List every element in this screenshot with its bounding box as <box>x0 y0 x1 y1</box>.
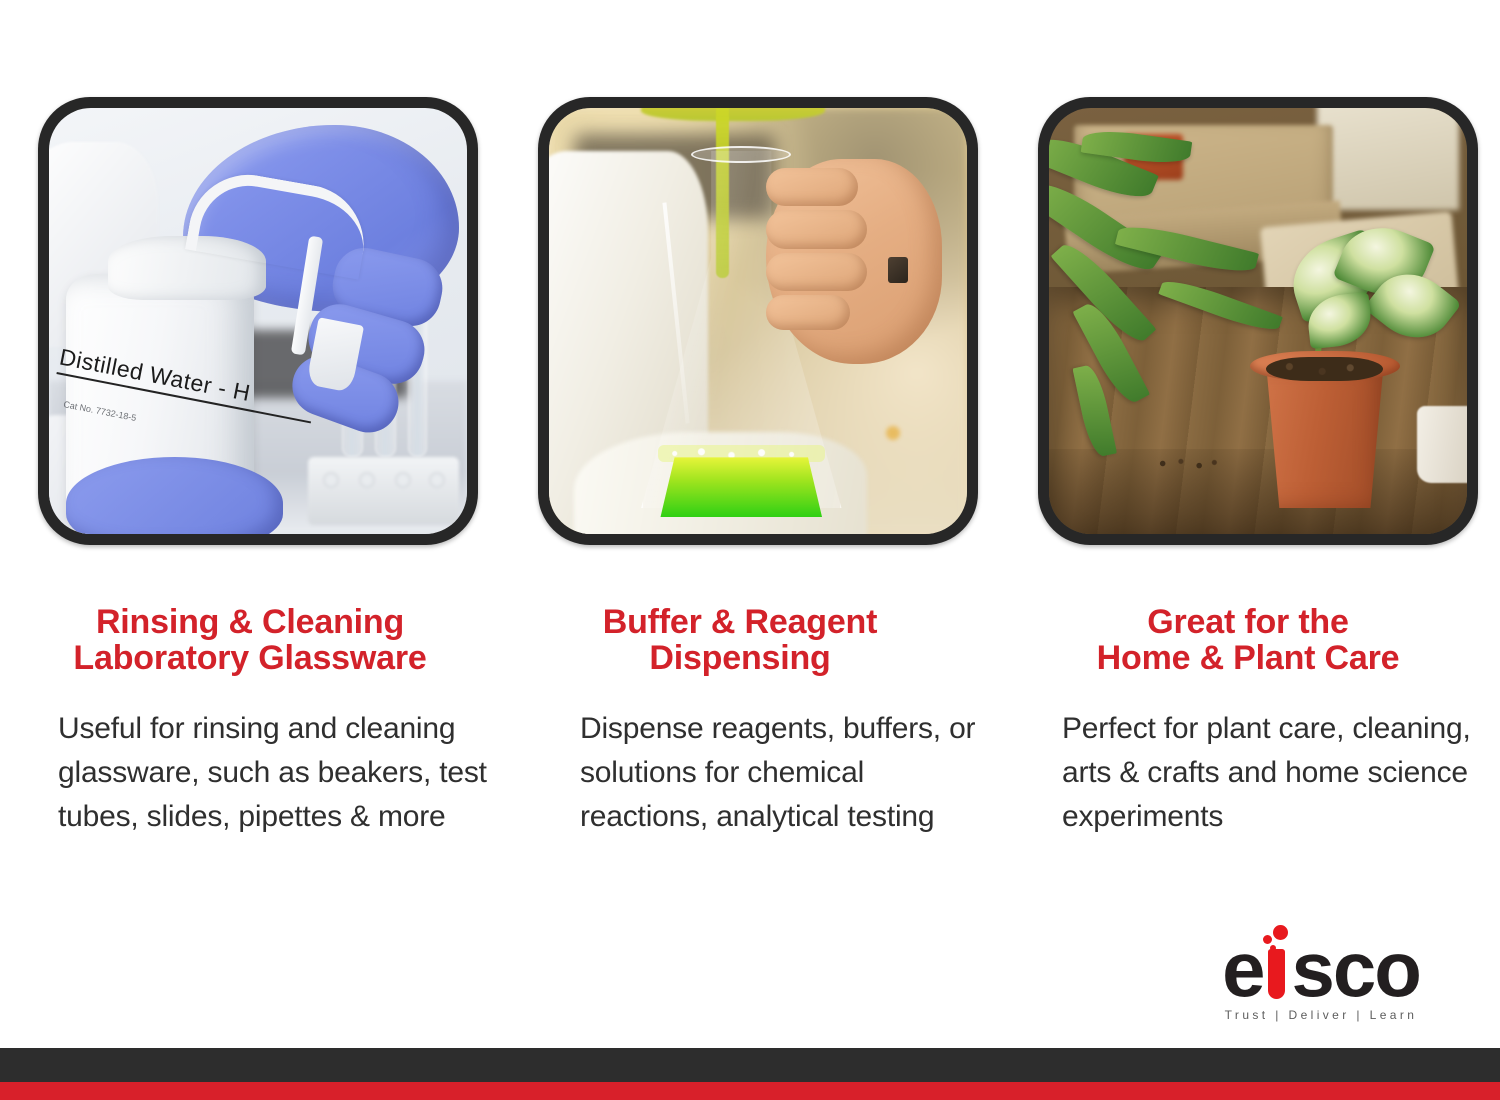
feature-heading-2-line1: Buffer & Reagent <box>603 603 878 641</box>
feature-column-home-plant-care: Great for the Home & Plant Care Perfect … <box>1000 0 1500 1040</box>
feature-column-buffer-reagent: Buffer & Reagent Dispensing Dispense rea… <box>500 0 1000 1040</box>
image-card-2 <box>538 97 978 545</box>
test-tube-body <box>1268 949 1285 999</box>
green-liquid <box>654 457 830 517</box>
feature-columns: Distilled Water - H Cat No. 7732-18-5 Ri… <box>0 0 1500 1040</box>
image-card-3 <box>1038 97 1478 545</box>
feature-heading-3-line1: Great for the <box>1147 603 1348 641</box>
logo-letters-sco: sco <box>1291 938 1419 1002</box>
feature-heading-3: Great for the Home & Plant Care <box>1018 604 1478 676</box>
footer-dark-bar <box>0 1048 1500 1082</box>
feature-heading-3-line2: Home & Plant Care <box>1097 639 1400 677</box>
table-shadow-gradient <box>1049 449 1467 534</box>
logo-tagline: Trust | Deliver | Learn <box>1196 1008 1446 1022</box>
window-light-background <box>1317 108 1459 210</box>
feature-column-rinsing-cleaning: Distilled Water - H Cat No. 7732-18-5 Ri… <box>0 0 500 1040</box>
marketing-infographic-page: Distilled Water - H Cat No. 7732-18-5 Ri… <box>0 0 1500 1100</box>
feature-heading-2-line2: Dispensing <box>649 639 830 677</box>
feature-heading-1: Rinsing & Cleaning Laboratory Glassware <box>20 604 480 676</box>
finger-ring <box>888 257 909 283</box>
potting-soil <box>1266 357 1383 380</box>
image-card-1: Distilled Water - H Cat No. 7732-18-5 <box>38 97 478 545</box>
finger-3 <box>766 253 866 291</box>
eisco-logo: e sco Trust | Deliver | Learn <box>1196 912 1446 1036</box>
white-pot-right <box>1417 406 1467 483</box>
bubble-medium-icon <box>1263 935 1272 944</box>
feature-body-2: Dispense reagents, buffers, or solutions… <box>580 707 1000 838</box>
spilled-soil <box>1149 453 1224 474</box>
feature-heading-1-line2: Laboratory Glassware <box>73 639 426 677</box>
hand-holding-erlenmeyer-flask-photo <box>549 108 967 534</box>
test-tube-rack <box>308 457 458 525</box>
terracotta-pot <box>1258 364 1392 509</box>
bubble-large-icon <box>1273 925 1288 940</box>
feature-body-3: Perfect for plant care, cleaning, arts &… <box>1062 707 1492 838</box>
logo-letter-e: e <box>1222 938 1263 1002</box>
feature-heading-2: Buffer & Reagent Dispensing <box>510 604 970 676</box>
feature-heading-1-line1: Rinsing & Cleaning <box>96 603 404 641</box>
gloved-hands-wash-bottle-photo: Distilled Water - H Cat No. 7732-18-5 <box>49 108 467 534</box>
finger-1 <box>766 168 858 206</box>
finger-2 <box>766 210 866 248</box>
finger-4 <box>766 295 850 329</box>
eisco-logo-wordmark: e sco <box>1196 930 1446 1002</box>
feature-body-1: Useful for rinsing and cleaning glasswar… <box>58 707 498 838</box>
test-tube-icon <box>1264 943 1290 999</box>
potted-plant-on-wood-table-photo <box>1049 108 1467 534</box>
footer-red-bar <box>0 1082 1500 1100</box>
